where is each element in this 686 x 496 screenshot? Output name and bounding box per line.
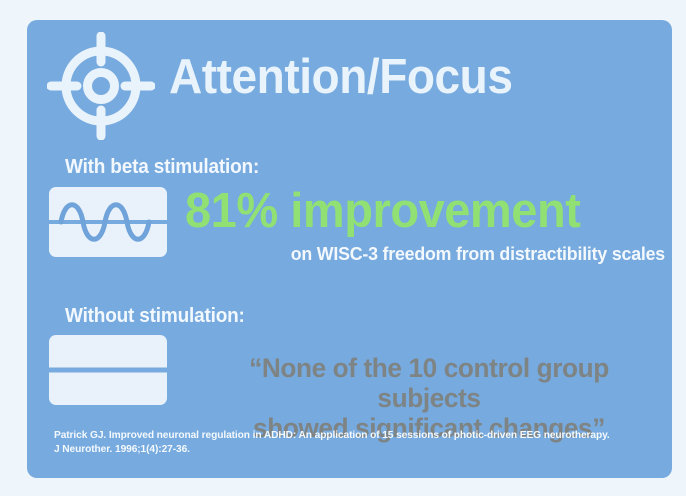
quote-line-1: “None of the 10 control group subjects [194, 353, 663, 413]
beta-stat-block: 81% improvement on WISC-3 freedom from d… [185, 183, 665, 266]
improvement-detail: on WISC-3 freedom from distractibility s… [204, 242, 665, 266]
improvement-stat: 81% improvement [185, 183, 646, 239]
eeg-waveform-icon [49, 187, 167, 257]
section-label-without-stimulation: Without stimulation: [65, 305, 245, 328]
section-label-with-beta-stimulation: With beta stimulation: [65, 156, 259, 179]
target-crosshair-icon [47, 32, 155, 140]
page-title: Attention/Focus [169, 48, 512, 106]
eeg-flatline-icon [49, 335, 167, 405]
citation-line-1: Patrick GJ. Improved neuronal regulation… [54, 428, 617, 442]
citation: Patrick GJ. Improved neuronal regulation… [54, 428, 617, 456]
citation-line-2: J Neurother. 1996;1(4):27-36. [54, 442, 617, 456]
card-header: Attention/Focus [27, 20, 672, 146]
attention-focus-card: Attention/Focus With beta stimulation: 8… [27, 20, 672, 478]
